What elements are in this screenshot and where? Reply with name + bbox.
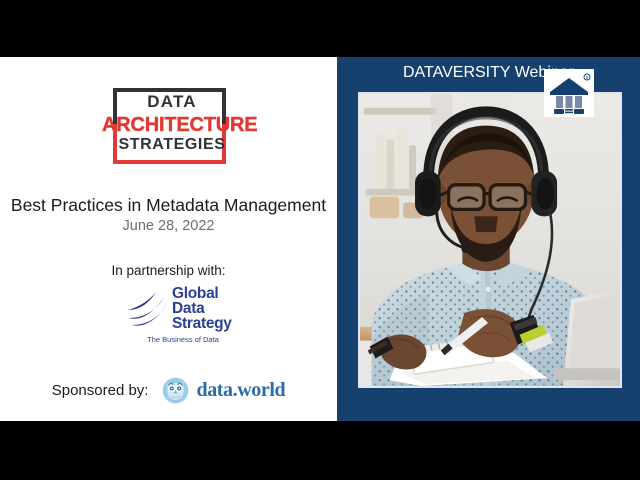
webinar-title: Best Practices in Metadata Management [0, 195, 337, 216]
partner-tagline: The Business of Data [120, 335, 246, 344]
dataversity-building-badge: R [544, 69, 594, 117]
building-icon: R [544, 69, 594, 117]
logo-word-architecture: ARCHITECTURE [102, 114, 242, 137]
sponsor-row: Sponsored by: data.world [0, 373, 337, 407]
global-data-strategy-logo: Global Data Strategy The Business of Dat… [126, 285, 246, 349]
swoosh-icon [126, 288, 170, 332]
slide-canvas: DATA ARCHITECTURE STRATEGIES Best Practi… [0, 57, 640, 421]
webinar-brand-panel: DATAVERSITY Webinar [337, 57, 640, 421]
letterbox-top [0, 0, 640, 57]
data-world-wordmark: data.world [196, 379, 285, 402]
logo-word-strategies: STRATEGIES [108, 136, 236, 154]
partnership-label: In partnership with: [0, 263, 337, 278]
partner-word-strategy: Strategy [172, 315, 232, 333]
letterbox-bottom [0, 421, 640, 480]
svg-text:R: R [586, 75, 589, 80]
dataversity-webinar-title: DATAVERSITY Webinar [337, 64, 640, 82]
speaker-photo-image [360, 94, 620, 386]
data-architecture-strategies-logo: DATA ARCHITECTURE STRATEGIES [108, 88, 238, 164]
logo-word-data: DATA [108, 92, 236, 112]
sponsor-label: Sponsored by: [52, 382, 149, 399]
owl-icon [162, 377, 189, 404]
webinar-date: June 28, 2022 [0, 218, 337, 234]
left-content-panel: DATA ARCHITECTURE STRATEGIES Best Practi… [0, 57, 337, 421]
slide-frame: DATA ARCHITECTURE STRATEGIES Best Practi… [0, 0, 640, 480]
speaker-photo [358, 92, 622, 388]
